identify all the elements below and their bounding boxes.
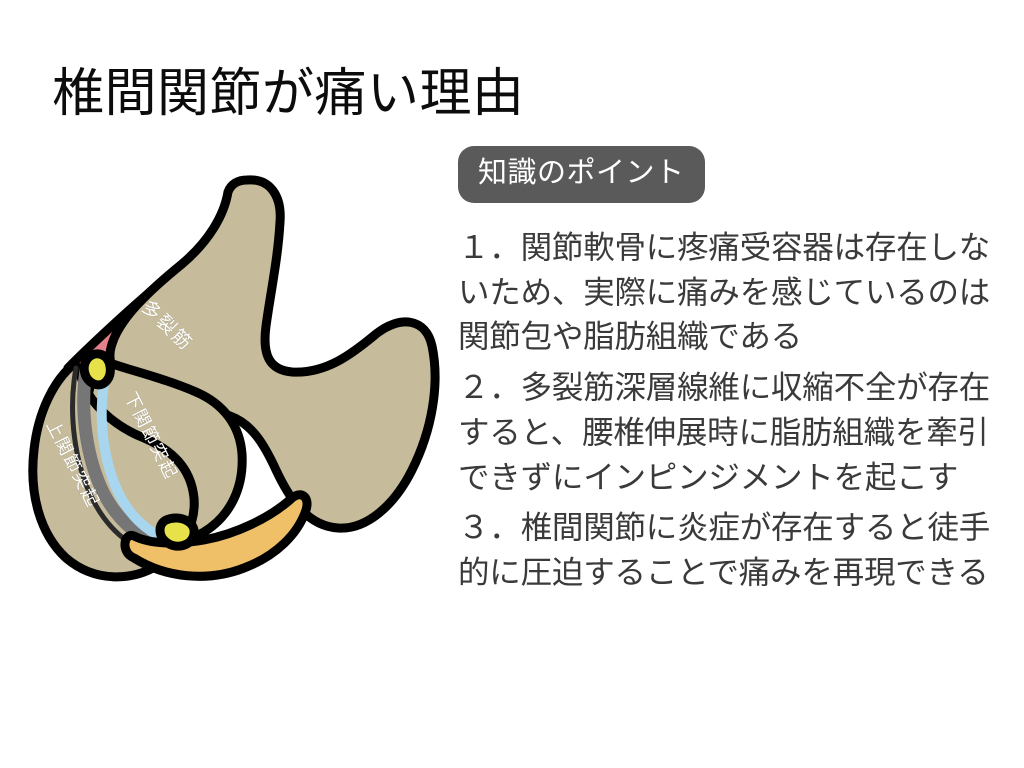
lower-fat-pad [160,518,194,546]
slide-canvas: 椎間関節が痛い理由 [0,0,1024,768]
content-column: 知識のポイント １．関節軟骨に疼痛受容器は存在しないため、実際に痛みを感じている… [458,146,998,601]
list-item: ２．多裂筋深層線維に収縮不全が存在すると、腰椎伸展時に脂肪組織を牽引できずにイン… [458,365,998,499]
list-item: １．関節軟骨に疼痛受容器は存在しないため、実際に痛みを感じているのは関節包や脂肪… [458,225,998,359]
points-list: １．関節軟骨に疼痛受容器は存在しないため、実際に痛みを感じているのは関節包や脂肪… [458,225,998,595]
upper-fat-pad [84,354,110,385]
status-badge: 知識のポイント [458,146,705,203]
page-title: 椎間関節が痛い理由 [52,65,525,125]
lumbar-facet-joint-illustration: 多裂筋 下関節突起 上関節突起 [8,158,448,608]
list-item: ３．椎間関節に炎症が存在すると徒手的に圧迫することで痛みを再現できる [458,505,998,594]
